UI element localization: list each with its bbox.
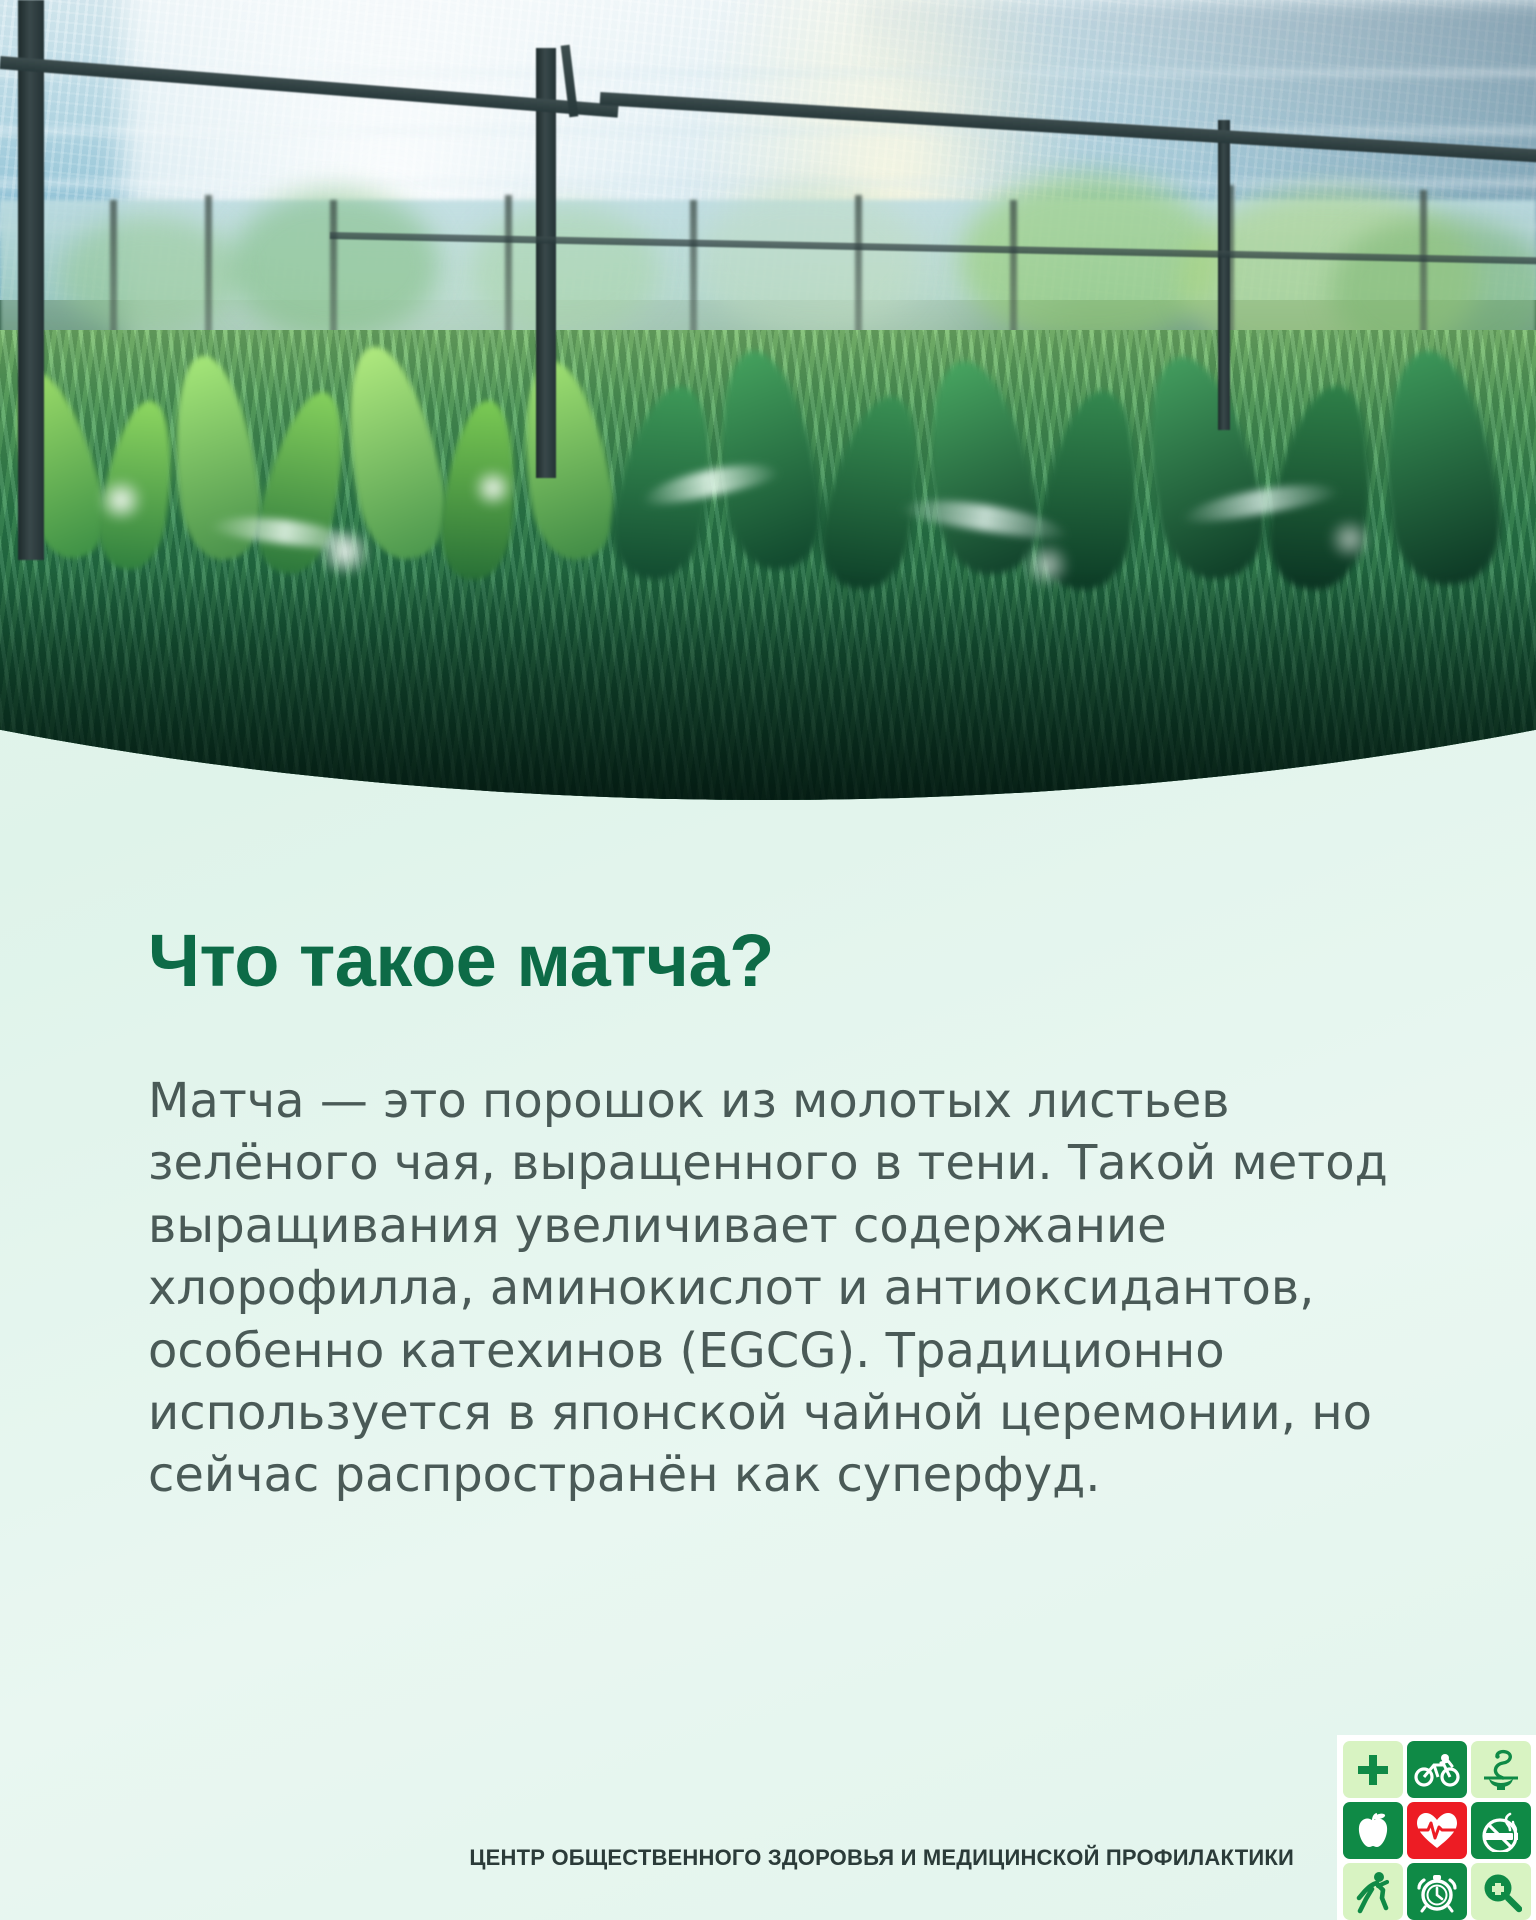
bicycle-icon [1414, 1752, 1460, 1788]
body-paragraph: Матча — это порошок из молотых листьев з… [148, 1070, 1418, 1507]
support-post-right [1218, 120, 1230, 430]
running-man-icon [1353, 1870, 1393, 1914]
heart-pulse-icon [1415, 1811, 1459, 1851]
hero-image [0, 0, 1536, 800]
logo-tile-bowl-of-hygieia [1471, 1741, 1531, 1798]
support-post-left [18, 0, 44, 560]
no-smoking-icon [1479, 1810, 1523, 1852]
alarm-clock-icon [1415, 1870, 1459, 1914]
logo-tile-magnifier-plus [1471, 1863, 1531, 1920]
page-title: Что такое матча? [148, 918, 774, 1003]
tea-plantation-photo [0, 0, 1536, 800]
magnifier-plus-icon [1480, 1871, 1522, 1913]
logo-tile-bicycle [1407, 1741, 1467, 1798]
medical-cross-icon [1353, 1750, 1393, 1790]
organization-logo [1337, 1735, 1536, 1920]
logo-tile-no-smoking [1471, 1802, 1531, 1859]
bowl-of-hygieia-icon [1481, 1748, 1521, 1792]
logo-tile-alarm-clock [1407, 1863, 1467, 1920]
footer-organization-name: ЦЕНТР ОБЩЕСТВЕННОГО ЗДОРОВЬЯ И МЕДИЦИНСК… [0, 1845, 1294, 1871]
apple-icon [1352, 1810, 1394, 1852]
foreground-shadow [0, 570, 1536, 800]
logo-tile-running-man [1343, 1863, 1403, 1920]
poster-card: Что такое матча? Матча — это порошок из … [0, 0, 1536, 1920]
logo-tile-medical-cross [1343, 1741, 1403, 1798]
content-area: Что такое матча? Матча — это порошок из … [0, 800, 1536, 1920]
body-paragraph-text: Матча — это порошок из молотых листьев з… [148, 1070, 1418, 1507]
logo-tile-apple [1343, 1802, 1403, 1859]
logo-tile-heart-pulse [1407, 1802, 1467, 1859]
